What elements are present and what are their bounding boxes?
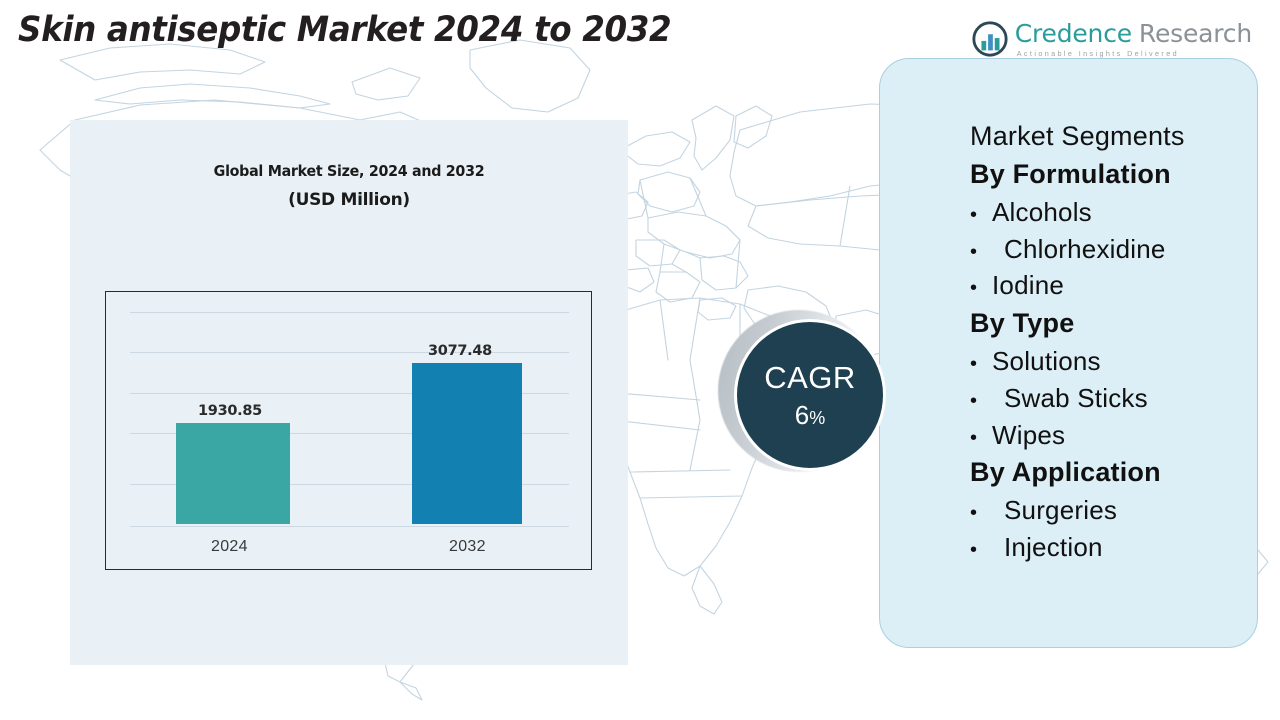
bullet-icon: • [970,536,992,564]
gridline [130,352,569,353]
segment-item-chlorhexidine: • Chlorhexidine [970,231,1247,268]
segment-group-title-application: By Application [970,453,1247,491]
bar-2024 [176,423,290,524]
cagr-label: CAGR [764,362,856,393]
segment-item-swab-sticks: • Swab Sticks [970,380,1247,417]
segment-item-label: Swab Sticks [992,380,1148,417]
bar-2032 [412,363,522,524]
cagr-badge: CAGR 6 % [718,307,898,487]
cagr-percent-sign: % [809,409,825,427]
bullet-icon: • [970,274,992,302]
page-title: Skin antiseptic Market 2024 to 2032 [18,10,671,50]
bullet-icon: • [970,424,992,452]
logo-brand-first: Credence [1015,19,1132,48]
x-axis-label-2024: 2024 [211,538,248,556]
segment-item-label: Solutions [992,343,1101,380]
infographic-root: Skin antiseptic Market 2024 to 2032 Cred… [0,0,1280,720]
segment-item-label: Injection [992,529,1103,566]
segment-group-title-type: By Type [970,304,1247,342]
bullet-icon: • [970,499,992,527]
segment-item-injection: • Injection [970,529,1247,566]
logo-wordmark: CredenceResearch [1015,21,1252,46]
chart-title: Global Market Size, 2024 and 2032 [84,162,614,180]
cagr-circle: CAGR 6 % [734,319,886,471]
segment-item-label: Surgeries [992,492,1117,529]
segment-item-label: Wipes [992,417,1065,454]
logo-brand-second: Research [1139,19,1252,48]
bullet-icon: • [970,387,992,415]
segment-item-label: Iodine [992,267,1064,304]
segment-item-label: Chlorhexidine [992,231,1166,268]
segment-item-surgeries: • Surgeries [970,492,1247,529]
segments-heading: Market Segments [970,117,1247,155]
segment-item-wipes: • Wipes [970,417,1247,454]
bar-chart-plot-area: 1930.85 3077.48 2024 2032 [105,291,592,570]
chart-subtitle: (USD Million) [70,190,628,210]
segment-item-iodine: • Iodine [970,267,1247,304]
credence-research-logo[interactable]: CredenceResearch Actionable Insights Del… [971,20,1252,58]
bar-value-2032: 3077.48 [428,343,492,359]
bullet-icon: • [970,238,992,266]
chart-panel: Global Market Size, 2024 and 2032 (USD M… [70,120,628,665]
bar-value-2024: 1930.85 [198,403,262,419]
market-segments-panel: Market Segments By Formulation • Alcohol… [879,58,1258,648]
cagr-value: 6 [795,402,809,428]
segment-item-alcohols: • Alcohols [970,194,1247,231]
logo-tagline: Actionable Insights Delivered [1017,50,1252,57]
bullet-icon: • [970,201,992,229]
x-axis-label-2032: 2032 [449,538,486,556]
segment-item-label: Alcohols [992,194,1092,231]
cagr-value-row: 6 % [795,402,825,428]
gridline [130,526,569,527]
segment-group-title-formulation: By Formulation [970,155,1247,193]
segment-item-solutions: • Solutions [970,343,1247,380]
gridline [130,312,569,313]
bar-chart-circle-icon [971,20,1009,58]
bullet-icon: • [970,350,992,378]
